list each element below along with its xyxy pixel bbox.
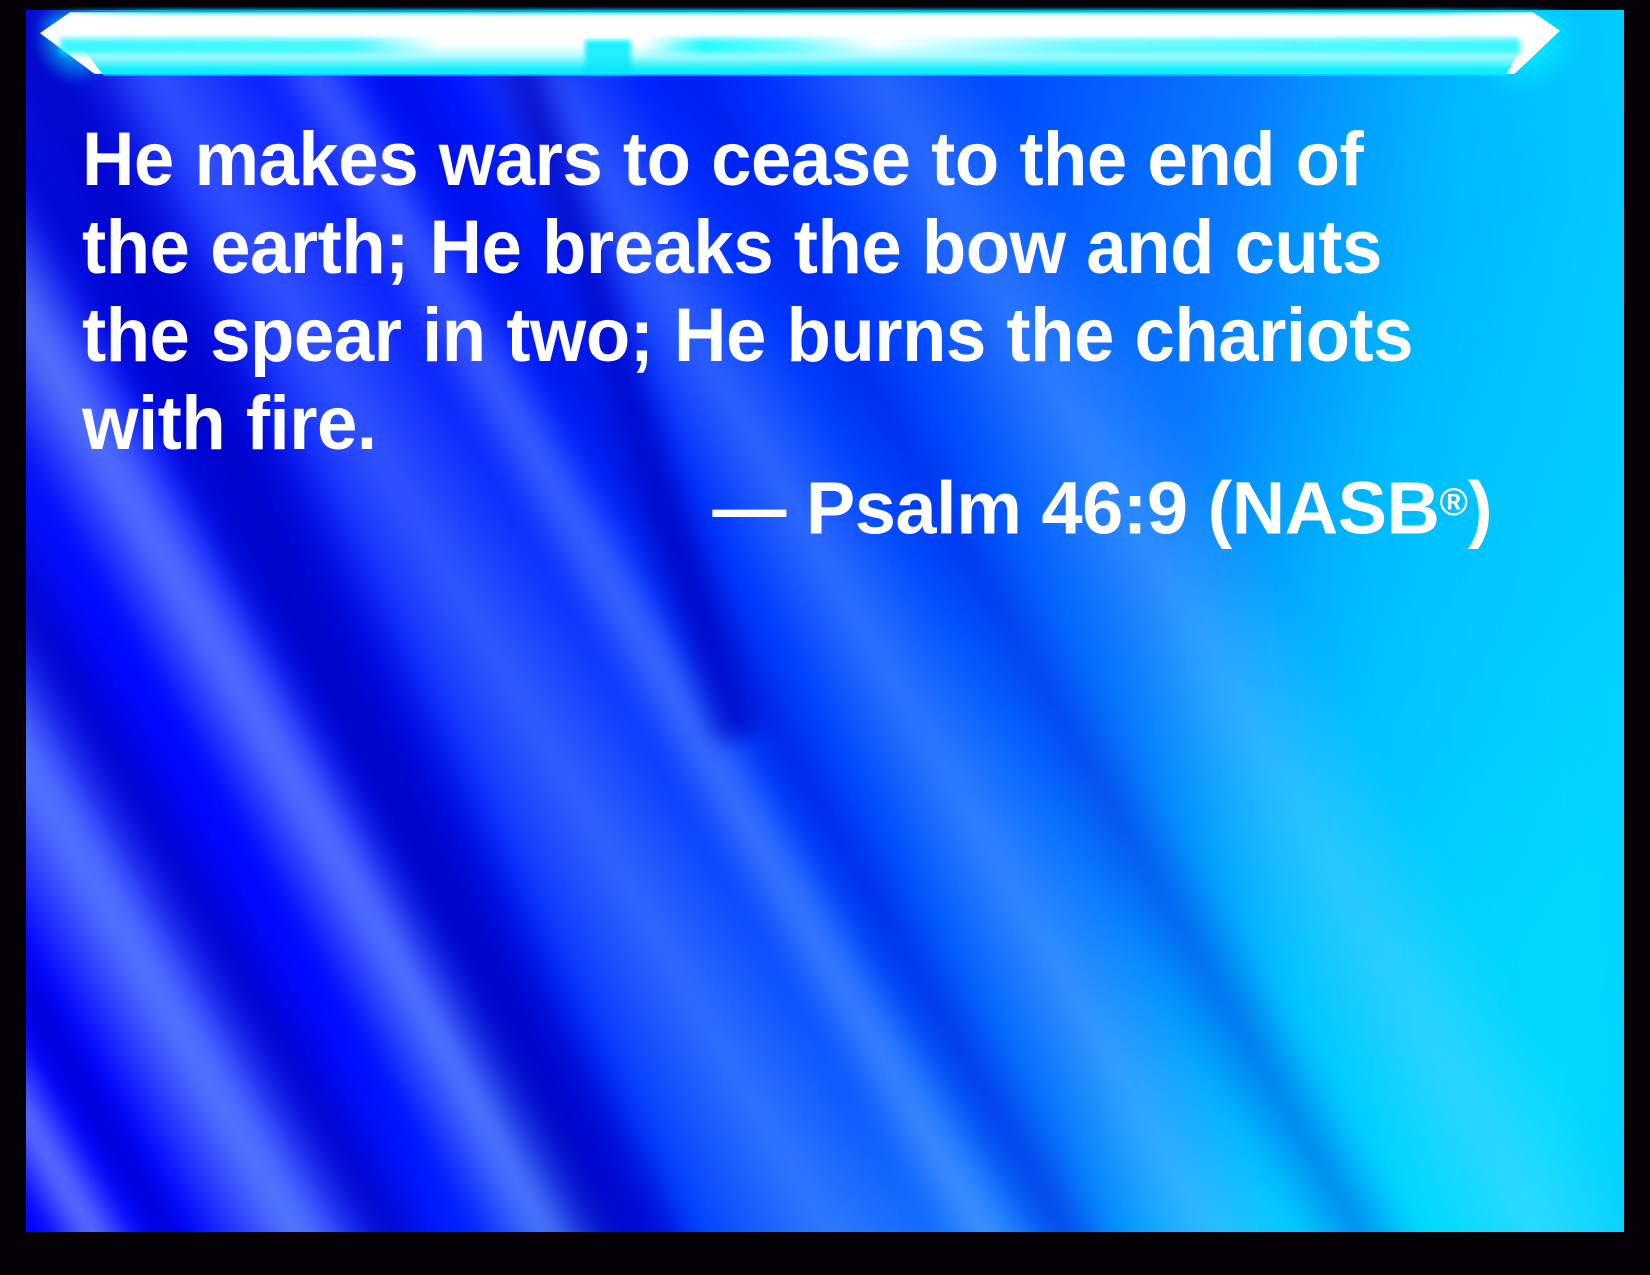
- attribution-dash: —: [712, 466, 786, 549]
- attribution-translation: NASB: [1232, 466, 1440, 549]
- attribution-reference: Psalm 46:9: [806, 466, 1188, 549]
- verse-text: He makes wars to cease to the end of the…: [82, 116, 1419, 468]
- top-band-notch: [585, 40, 631, 78]
- attribution-close-paren: ): [1468, 466, 1492, 549]
- attribution-open-paren: (: [1208, 466, 1232, 549]
- scripture-slide: He makes wars to cease to the end of the…: [0, 0, 1650, 1275]
- verse-block: He makes wars to cease to the end of the…: [82, 116, 1482, 468]
- top-band-hairline: [40, 9, 1560, 14]
- registered-trademark-icon: ®: [1439, 481, 1467, 524]
- verse-attribution: — Psalm 46:9 (NASB®): [82, 460, 1492, 551]
- top-band-cyan-wisp: [60, 38, 1520, 54]
